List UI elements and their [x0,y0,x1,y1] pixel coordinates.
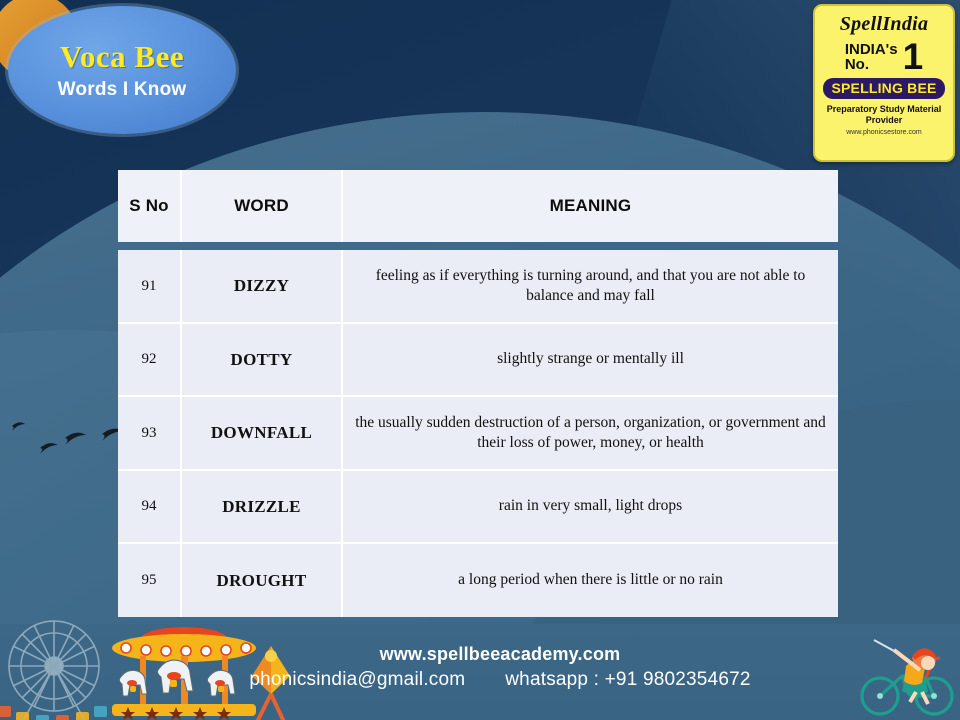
logo-provider-text: Preparatory Study Material Provider [819,104,949,127]
cell-word: DROUGHT [180,544,343,617]
header-label-word: WORD [234,196,289,216]
table-header: S No WORD MEANING [118,170,838,242]
logo-rank-line1: INDIA's [845,42,898,57]
value-sno: 91 [142,278,157,295]
table-row: 92 DOTTY slightly strange or mentally il… [118,324,838,397]
cell-sno: 93 [118,397,180,469]
value-sno: 94 [142,498,157,515]
table-row: 94 DRIZZLE rain in very small, light dro… [118,471,838,544]
value-word: DROUGHT [217,571,307,591]
value-word: DIZZY [234,276,289,296]
value-sno: 93 [142,425,157,442]
value-sno: 95 [142,572,157,589]
header-cell-meaning: MEANING [343,170,838,242]
footer: www.spellbeeacademy.com phonicsindia@gma… [0,624,960,720]
value-word: DRIZZLE [222,497,301,517]
cell-meaning: the usually sudden destruction of a pers… [343,397,838,469]
footer-contact-block: www.spellbeeacademy.com phonicsindia@gma… [200,644,800,691]
footer-email[interactable]: phonicsindia@gmail.com [249,669,465,691]
header-label-meaning: MEANING [550,196,632,216]
table-body: 91 DIZZY feeling as if everything is tur… [118,250,838,617]
value-meaning: the usually sudden destruction of a pers… [351,413,830,454]
logo-spelling-bee-bar: SPELLING BEE [823,78,945,99]
table-header-body-gap [118,242,838,250]
cell-word: DOWNFALL [180,397,343,469]
value-meaning: slightly strange or mentally ill [497,349,684,369]
logo-website: www.phonicsestore.com [846,129,921,136]
cell-word: DIZZY [180,250,343,322]
value-word: DOWNFALL [211,423,312,443]
vocabulary-table: S No WORD MEANING 91 DIZZY feeling as if… [118,170,838,617]
footer-whatsapp[interactable]: whatsapp : +91 9802354672 [505,669,750,691]
header-label-sno: S No [129,196,169,216]
cell-meaning: rain in very small, light drops [343,471,838,542]
title-badge: Voca Bee Words I Know [8,6,236,134]
header-cell-word: WORD [180,170,343,242]
value-sno: 92 [142,351,157,368]
value-word: DOTTY [231,350,293,370]
value-meaning: feeling as if everything is turning arou… [351,266,830,307]
logo-rank-label: INDIA's No. [845,42,898,73]
logo-rank-row: INDIA's No. 1 [819,41,949,73]
page-title: Voca Bee [60,39,184,75]
logo-rank-number: 1 [903,41,924,73]
page-subtitle: Words I Know [58,79,187,101]
cell-sno: 92 [118,324,180,395]
value-meaning: a long period when there is little or no… [458,570,723,590]
cell-sno: 95 [118,544,180,617]
logo-rank-line2: No. [845,57,898,72]
cell-word: DOTTY [180,324,343,395]
cell-sno: 94 [118,471,180,542]
footer-contact-row: phonicsindia@gmail.com whatsapp : +91 98… [200,669,800,691]
spellindia-logo: SpellIndia INDIA's No. 1 SPELLING BEE Pr… [813,4,955,162]
header-cell-sno: S No [118,170,180,242]
table-header-row: S No WORD MEANING [118,170,838,242]
girl-on-bicycle-icon [854,628,958,720]
table-row: 93 DOWNFALL the usually sudden destructi… [118,397,838,471]
cell-sno: 91 [118,250,180,322]
table-row: 91 DIZZY feeling as if everything is tur… [118,250,838,324]
cell-word: DRIZZLE [180,471,343,542]
logo-brand-text: SpellIndia [840,13,929,36]
cell-meaning: slightly strange or mentally ill [343,324,838,395]
cell-meaning: a long period when there is little or no… [343,544,838,617]
footer-website[interactable]: www.spellbeeacademy.com [200,644,800,665]
cell-meaning: feeling as if everything is turning arou… [343,250,838,322]
value-meaning: rain in very small, light drops [499,496,682,516]
table-row: 95 DROUGHT a long period when there is l… [118,544,838,617]
slide-canvas: Voca Bee Words I Know SpellIndia INDIA's… [0,0,960,720]
